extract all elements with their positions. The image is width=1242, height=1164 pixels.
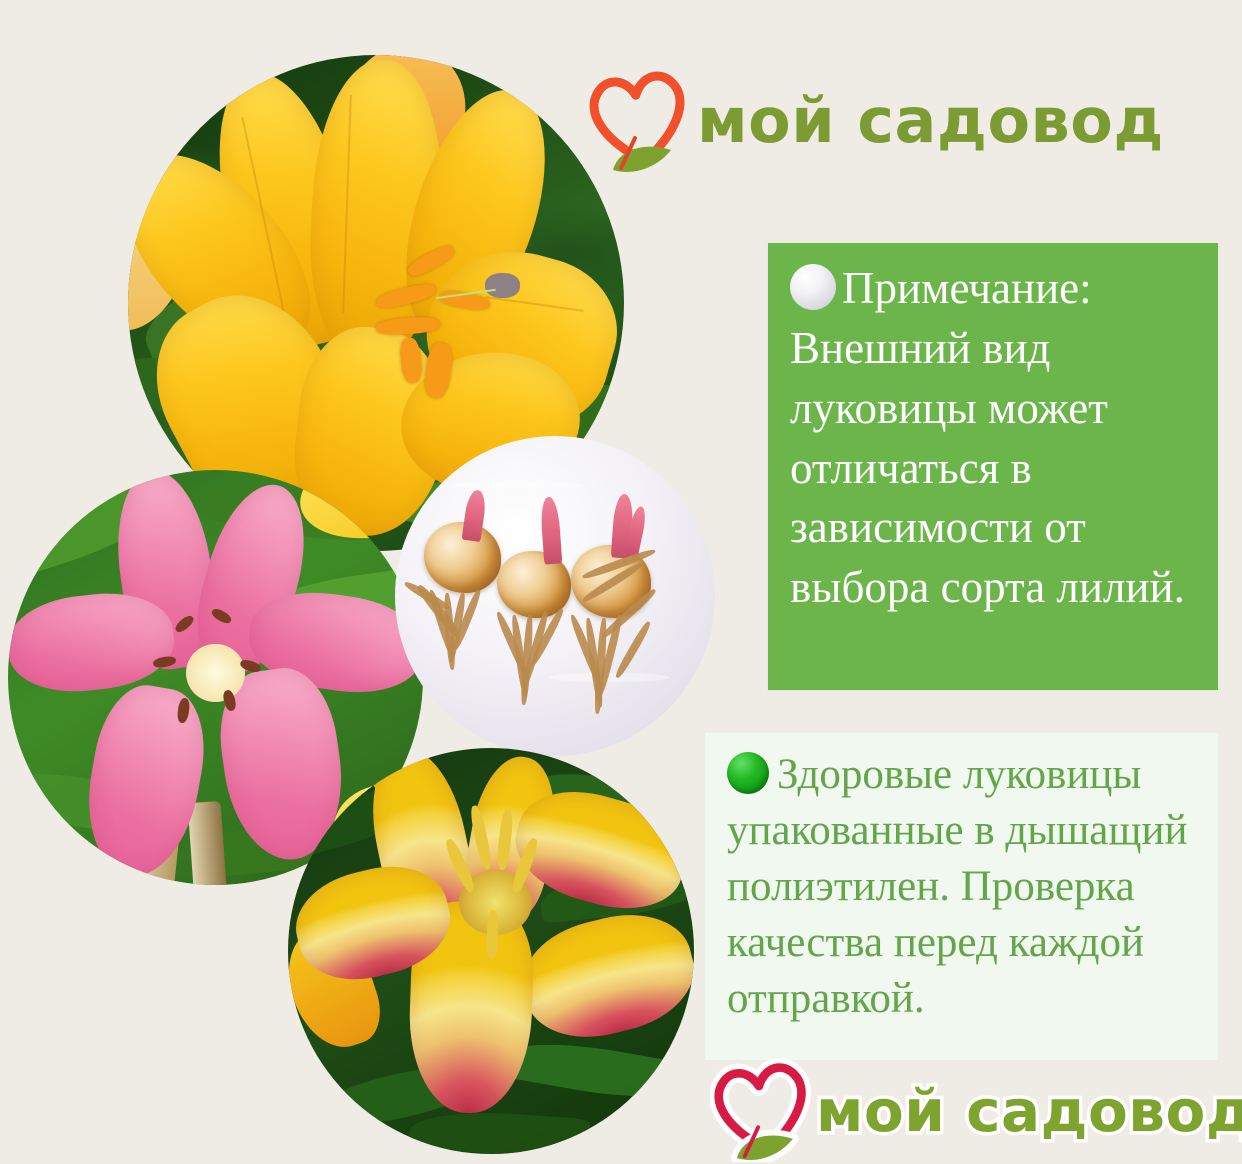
- green-sphere-bullet-icon: [727, 752, 769, 794]
- brand-wordmark: мой садовод: [697, 84, 1164, 157]
- heart-leaf-icon: [585, 62, 693, 179]
- brand-logo-top: мой садовод: [585, 62, 1164, 179]
- note-panel-primary: Примечание: Внешний вид луковицы может о…: [768, 243, 1218, 690]
- brand-logo-bottom: мой садовод: [710, 1054, 1242, 1164]
- white-sphere-bullet-icon: [790, 264, 836, 310]
- photo-lily-bulbs: [395, 436, 715, 756]
- note-secondary-text: Здоровые луковицы упакованные в дышащий …: [727, 751, 1188, 1022]
- note-primary-text: Внешний вид луковицы может отличаться в …: [790, 323, 1185, 612]
- note-primary-heading: Примечание:: [842, 263, 1092, 313]
- brand-wordmark: мой садовод: [816, 1077, 1242, 1145]
- note-primary-body: Примечание: Внешний вид луковицы может о…: [768, 243, 1218, 628]
- heart-leaf-icon: [710, 1054, 814, 1164]
- note-panel-secondary: Здоровые луковицы упакованные в дышащий …: [705, 733, 1218, 1060]
- photo-red-yellow-lily: [288, 748, 694, 1154]
- poster-canvas: мой садовод Примечание: Внешний вид луко…: [0, 0, 1242, 1164]
- note-secondary-body: Здоровые луковицы упакованные в дышащий …: [705, 733, 1218, 1036]
